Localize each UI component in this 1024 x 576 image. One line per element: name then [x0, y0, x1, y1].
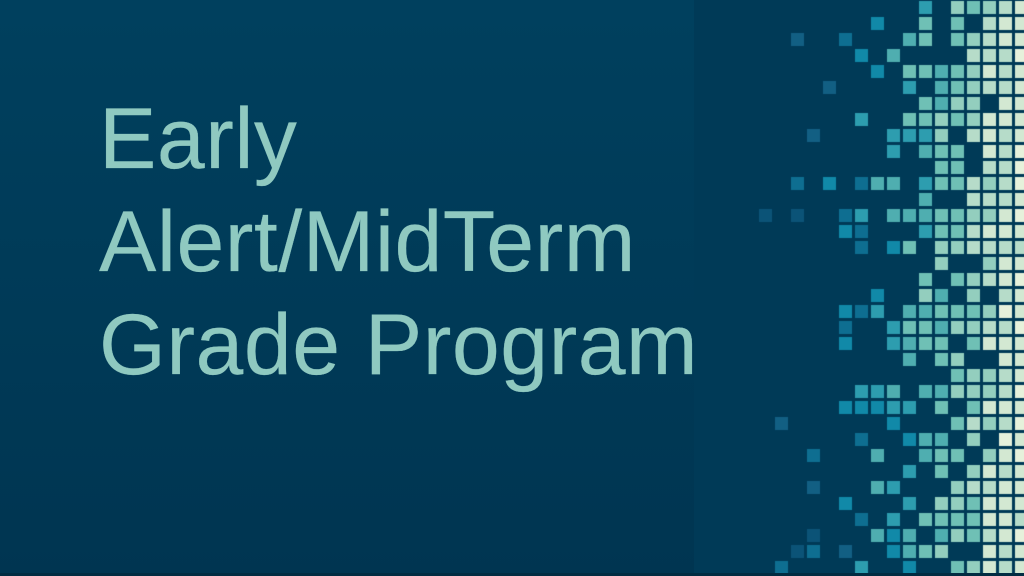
- title-line-2: Alert/MidTerm: [99, 191, 659, 294]
- title-line-1: Early: [99, 88, 659, 191]
- title-line-3: Grade Program: [99, 294, 659, 397]
- title-slide: Early Alert/MidTerm Grade Program: [0, 0, 1024, 576]
- mosaic-gradient-panel: [694, 0, 1024, 576]
- page-title: Early Alert/MidTerm Grade Program: [99, 88, 659, 397]
- mosaic-canvas: [694, 0, 1024, 576]
